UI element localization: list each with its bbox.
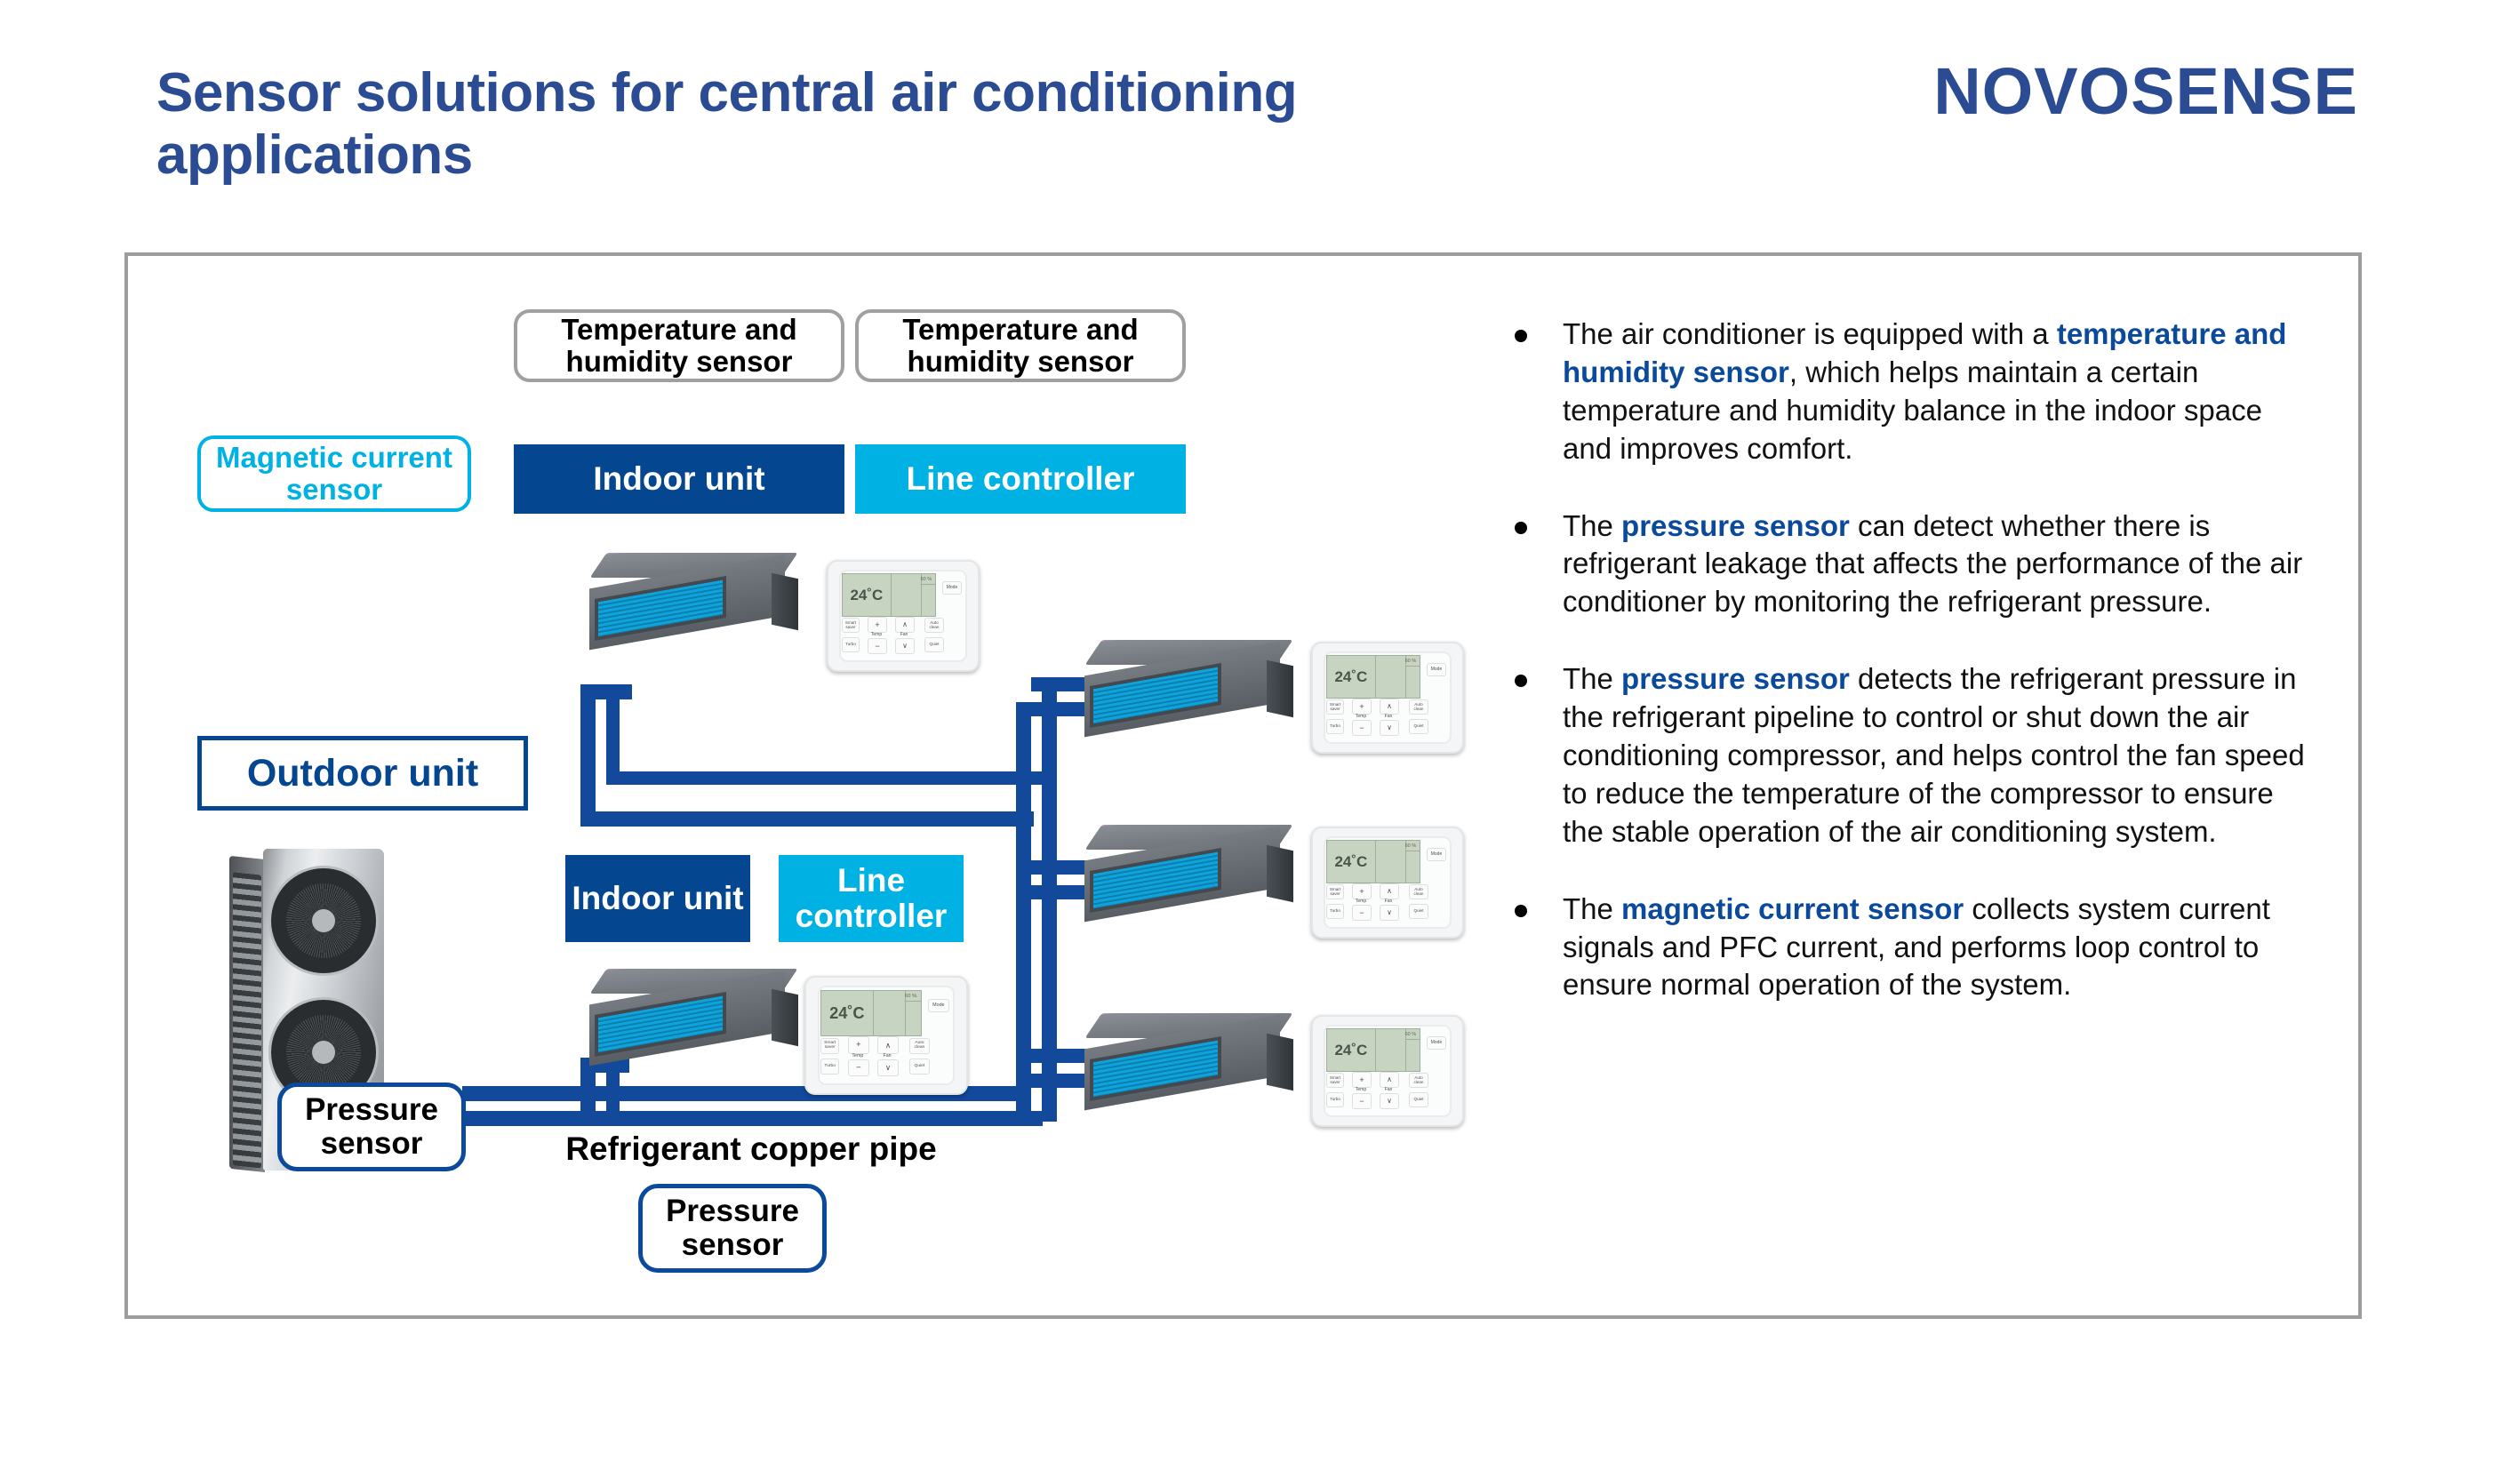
thermostat-quiet-button[interactable]: Quiet bbox=[1409, 904, 1428, 919]
thermostat-temperature: 24˚C bbox=[1334, 1042, 1367, 1059]
indoor-duct-unit bbox=[576, 969, 798, 1065]
thermostat-fan-down-button[interactable]: ∨ bbox=[1380, 1093, 1399, 1109]
lcd-divider-1 bbox=[873, 991, 874, 1035]
thermostat-temperature: 24˚C bbox=[1334, 668, 1367, 686]
outdoor-unit-louvers bbox=[233, 872, 261, 1168]
thermostat-quiet-button[interactable]: Quiet bbox=[909, 1059, 930, 1075]
bullet-text: The magnetic current sensor collects sys… bbox=[1563, 891, 2311, 1005]
bullet-item: The air conditioner is equipped with a t… bbox=[1511, 316, 2311, 468]
thermostat-smart-saver-button[interactable]: Smart saver bbox=[1326, 699, 1344, 715]
label-temp-humidity-sensor-1: Temperature and humidity sensor bbox=[514, 309, 844, 382]
duct-unit-end-cap bbox=[772, 989, 798, 1047]
thermostat-turbo-button[interactable]: Turbo bbox=[1326, 719, 1344, 734]
bullet-item: The magnetic current sensor collects sys… bbox=[1511, 891, 2311, 1005]
lcd-divider-3 bbox=[921, 584, 936, 585]
label-pressure-sensor-left: Pressure sensor bbox=[277, 1083, 466, 1171]
thermostat-fan-label: Fan bbox=[1380, 899, 1397, 904]
label-refrigerant-copper-pipe: Refrigerant copper pipe bbox=[542, 1130, 960, 1168]
outdoor-unit-fan-top bbox=[271, 868, 376, 973]
pipe-lower-left-horiz bbox=[580, 1111, 1043, 1126]
thermostat-mode-button[interactable]: Mode bbox=[1427, 663, 1446, 676]
thermostat-lcd: 24˚C60 % bbox=[1326, 655, 1420, 698]
line-controller-thermostat[interactable]: 24˚C60 %ModeSmart saverTurbo+Temp−∧Fan∨A… bbox=[804, 976, 968, 1095]
thermostat-temperature: 24˚C bbox=[829, 1004, 864, 1023]
label-indoor-unit-mid: Indoor unit bbox=[565, 855, 750, 942]
bullet-dot-icon bbox=[1515, 330, 1527, 342]
thermostat-turbo-button[interactable]: Turbo bbox=[1326, 904, 1344, 919]
bullet-dot-icon bbox=[1515, 522, 1527, 534]
thermostat-fan-up-button[interactable]: ∧ bbox=[895, 617, 915, 633]
thermostat-fan-up-button[interactable]: ∧ bbox=[1380, 1072, 1399, 1088]
pipe-left-loop-cap bbox=[580, 684, 632, 699]
thermostat-turbo-button[interactable]: Turbo bbox=[842, 637, 860, 652]
lcd-divider-1 bbox=[1375, 1029, 1376, 1070]
thermostat-smart-saver-button[interactable]: Smart saver bbox=[1326, 1073, 1344, 1088]
label-pressure-sensor-bottom: Pressure sensor bbox=[638, 1184, 827, 1273]
thermostat-temperature: 24˚C bbox=[1334, 853, 1367, 871]
thermostat-temp-up-button[interactable]: + bbox=[868, 617, 887, 633]
pipe-lower-left-vert-inner bbox=[606, 1067, 620, 1113]
outdoor-unit-fan-hub-top bbox=[312, 909, 335, 932]
thermostat-auto-clean-button[interactable]: Auto clean bbox=[909, 1038, 930, 1054]
thermostat-mode-button[interactable]: Mode bbox=[942, 581, 962, 595]
thermostat-mode-button[interactable]: Mode bbox=[1427, 1036, 1446, 1050]
thermostat-smart-saver-button[interactable]: Smart saver bbox=[820, 1038, 839, 1054]
thermostat-temp-up-button[interactable]: + bbox=[848, 1036, 868, 1053]
thermostat-fan-label: Fan bbox=[895, 632, 913, 637]
bullet-text: The air conditioner is equipped with a t… bbox=[1563, 316, 2311, 468]
lcd-divider-3 bbox=[1405, 851, 1420, 851]
pipe-left-loop-vert-outer bbox=[580, 684, 596, 827]
thermostat-fan-up-button[interactable]: ∧ bbox=[877, 1036, 898, 1053]
line-controller-thermostat[interactable]: 24˚C60 %ModeSmart saverTurbo+Temp−∧Fan∨A… bbox=[1311, 1015, 1464, 1127]
label-temp-humidity-sensor-2: Temperature and humidity sensor bbox=[855, 309, 1186, 382]
pipe-left-loop-horiz-inner bbox=[606, 771, 1051, 785]
label-magnetic-current-sensor: Magnetic current sensor bbox=[197, 435, 471, 512]
thermostat-turbo-button[interactable]: Turbo bbox=[1326, 1092, 1344, 1107]
lcd-divider-1 bbox=[891, 574, 892, 615]
bullet-dot-icon bbox=[1515, 905, 1527, 917]
thermostat-temp-label: Temp bbox=[848, 1053, 867, 1059]
indoor-duct-unit bbox=[1071, 825, 1293, 921]
lcd-divider-1 bbox=[1375, 656, 1376, 697]
novosense-logo: NOVOSENSE bbox=[1933, 53, 2358, 129]
thermostat-fan-label: Fan bbox=[1380, 714, 1397, 719]
lcd-divider-3 bbox=[905, 1001, 921, 1002]
thermostat-mode-button[interactable]: Mode bbox=[1427, 848, 1446, 861]
label-line-controller-top: Line controller bbox=[855, 444, 1186, 514]
thermostat-quiet-button[interactable]: Quiet bbox=[1409, 1092, 1428, 1107]
thermostat-fan-down-button[interactable]: ∨ bbox=[1380, 720, 1399, 736]
thermostat-smart-saver-button[interactable]: Smart saver bbox=[842, 618, 860, 633]
thermostat-auto-clean-button[interactable]: Auto clean bbox=[924, 618, 944, 633]
thermostat-auto-clean-button[interactable]: Auto clean bbox=[1409, 1073, 1428, 1088]
thermostat-fan-down-button[interactable]: ∨ bbox=[895, 638, 915, 654]
thermostat-temp-label: Temp bbox=[868, 632, 885, 637]
thermostat-auto-clean-button[interactable]: Auto clean bbox=[1409, 884, 1428, 899]
thermostat-humidity: 60 % bbox=[1405, 843, 1417, 849]
outdoor-unit-side-panel bbox=[229, 856, 265, 1172]
duct-unit-end-cap bbox=[1267, 660, 1293, 718]
lcd-divider-1 bbox=[1375, 841, 1376, 882]
thermostat-humidity: 60 % bbox=[1405, 1032, 1417, 1037]
page-title: Sensor solutions for central air conditi… bbox=[156, 62, 1508, 187]
label-outdoor-unit: Outdoor unit bbox=[197, 736, 528, 811]
thermostat-fan-down-button[interactable]: ∨ bbox=[877, 1059, 898, 1076]
lcd-divider-3 bbox=[1405, 1039, 1420, 1040]
thermostat-temp-label: Temp bbox=[1352, 714, 1370, 719]
bullet-text: The pressure sensor detects the refriger… bbox=[1563, 660, 2311, 851]
thermostat-smart-saver-button[interactable]: Smart saver bbox=[1326, 884, 1344, 899]
thermostat-temp-down-button[interactable]: − bbox=[1352, 1093, 1372, 1109]
thermostat-temp-down-button[interactable]: − bbox=[1352, 905, 1372, 921]
thermostat-turbo-button[interactable]: Turbo bbox=[820, 1059, 839, 1075]
line-controller-thermostat[interactable]: 24˚C60 %ModeSmart saverTurbo+Temp−∧Fan∨A… bbox=[827, 560, 980, 672]
thermostat-humidity: 60 % bbox=[1405, 659, 1417, 664]
thermostat-lcd: 24˚C60 % bbox=[1326, 840, 1420, 883]
thermostat-lcd: 24˚C60 % bbox=[1326, 1028, 1420, 1071]
thermostat-temp-down-button[interactable]: − bbox=[848, 1059, 868, 1076]
thermostat-mode-button[interactable]: Mode bbox=[928, 999, 948, 1013]
lcd-divider-3 bbox=[1405, 666, 1420, 667]
thermostat-fan-up-button[interactable]: ∧ bbox=[1380, 883, 1399, 899]
bullet-highlight: temperature and humidity sensor bbox=[1563, 317, 2286, 388]
bullet-text: The pressure sensor can detect whether t… bbox=[1563, 507, 2311, 622]
thermostat-auto-clean-button[interactable]: Auto clean bbox=[1409, 699, 1428, 715]
pipe-left-loop-horiz-outer bbox=[580, 811, 1034, 827]
bullet-dot-icon bbox=[1515, 675, 1527, 687]
line-controller-thermostat[interactable]: 24˚C60 %ModeSmart saverTurbo+Temp−∧Fan∨A… bbox=[1311, 642, 1464, 754]
thermostat-lcd: 24˚C60 % bbox=[842, 573, 936, 616]
bullet-list: The air conditioner is equipped with a t… bbox=[1511, 316, 2311, 1043]
thermostat-temp-label: Temp bbox=[1352, 1087, 1370, 1092]
thermostat-temp-up-button[interactable]: + bbox=[1352, 1072, 1372, 1088]
thermostat-humidity: 60 % bbox=[921, 577, 932, 582]
label-indoor-unit-top: Indoor unit bbox=[514, 444, 844, 514]
bullet-highlight: pressure sensor bbox=[1621, 509, 1850, 542]
thermostat-temp-down-button[interactable]: − bbox=[868, 638, 887, 654]
outdoor-unit-fan-hub-bottom bbox=[312, 1041, 335, 1064]
thermostat-lcd: 24˚C60 % bbox=[820, 990, 922, 1035]
thermostat-temp-label: Temp bbox=[1352, 899, 1370, 904]
thermostat-quiet-button[interactable]: Quiet bbox=[1409, 719, 1428, 734]
thermostat-fan-label: Fan bbox=[1380, 1087, 1397, 1092]
thermostat-fan-down-button[interactable]: ∨ bbox=[1380, 905, 1399, 921]
duct-unit-end-cap bbox=[1267, 1034, 1293, 1091]
thermostat-temperature: 24˚C bbox=[850, 587, 883, 604]
indoor-duct-unit bbox=[1071, 1013, 1293, 1109]
duct-unit-end-cap bbox=[1267, 845, 1293, 903]
thermostat-quiet-button[interactable]: Quiet bbox=[924, 637, 944, 652]
thermostat-temp-down-button[interactable]: − bbox=[1352, 720, 1372, 736]
thermostat-fan-up-button[interactable]: ∧ bbox=[1380, 699, 1399, 715]
thermostat-humidity: 60 % bbox=[905, 994, 916, 999]
label-line-controller-mid: Line controller bbox=[779, 855, 964, 942]
indoor-duct-unit bbox=[1071, 640, 1293, 736]
indoor-duct-unit bbox=[576, 553, 798, 649]
thermostat-temp-up-button[interactable]: + bbox=[1352, 883, 1372, 899]
thermostat-temp-up-button[interactable]: + bbox=[1352, 699, 1372, 715]
bullet-highlight: pressure sensor bbox=[1621, 662, 1850, 695]
bullet-item: The pressure sensor can detect whether t… bbox=[1511, 507, 2311, 622]
line-controller-thermostat[interactable]: 24˚C60 %ModeSmart saverTurbo+Temp−∧Fan∨A… bbox=[1311, 827, 1464, 939]
duct-unit-end-cap bbox=[772, 573, 798, 631]
bullet-item: The pressure sensor detects the refriger… bbox=[1511, 660, 2311, 851]
bullet-highlight: magnetic current sensor bbox=[1621, 892, 1964, 925]
thermostat-fan-label: Fan bbox=[877, 1053, 896, 1059]
